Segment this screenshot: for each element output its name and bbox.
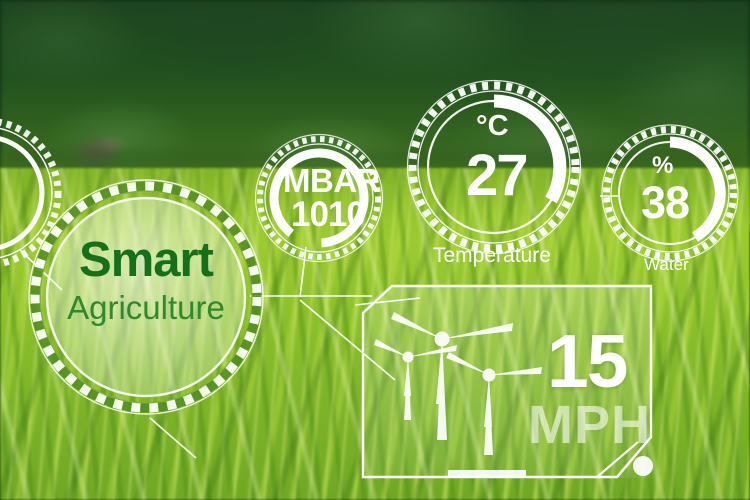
gauge-pressure bbox=[256, 135, 383, 262]
gauge-temperature bbox=[408, 81, 581, 254]
brand-circle bbox=[29, 180, 263, 414]
hud-overlay bbox=[0, 0, 750, 500]
gauge-water bbox=[602, 125, 738, 261]
connector-lower-left bbox=[150, 418, 196, 458]
water-progress-arc bbox=[670, 142, 720, 237]
status-dot-icon bbox=[633, 456, 653, 476]
dashboard-scene: MBAR 1010 °C 27 Temperature % 38 Water 1… bbox=[0, 0, 750, 500]
panel-base-bar bbox=[448, 470, 526, 478]
